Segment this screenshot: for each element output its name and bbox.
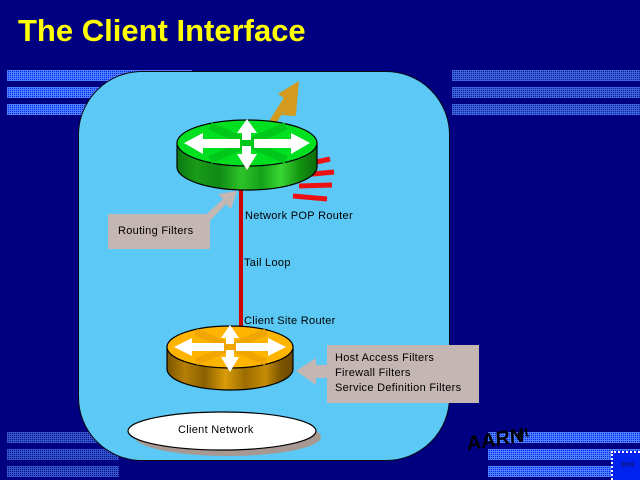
decor-stripe-bottom-left-2 [7, 449, 119, 460]
callout-routing-filters: Routing Filters [108, 214, 210, 249]
corner-placeholder-box[interactable]: 888 [611, 451, 640, 480]
slide-canvas: The Client Interface [0, 0, 640, 480]
client-site-router-label: Client Site Router [244, 315, 336, 327]
decor-stripe-top-right-3 [452, 104, 640, 115]
callout-site-filters-line-2: Firewall Filters [335, 366, 479, 381]
aarnet-logo: AARN et [468, 424, 548, 458]
callout-site-filters: Host Access Filters Firewall Filters Ser… [327, 345, 479, 403]
decor-stripe-bottom-left-3 [7, 466, 119, 477]
callout-routing-filters-line-1: Routing Filters [118, 224, 210, 239]
decor-stripe-top-right-2 [452, 87, 640, 98]
page-title: The Client Interface [18, 13, 306, 49]
corner-placeholder-text: 888 [621, 462, 635, 470]
client-network-label: Client Network [178, 424, 254, 436]
callout-site-filters-line-3: Service Definition Filters [335, 381, 479, 396]
network-pop-router-label: Network POP Router [245, 210, 353, 222]
callout-site-filters-line-1: Host Access Filters [335, 351, 479, 366]
decor-stripe-top-right-1 [452, 70, 640, 81]
aarnet-logo-suffix: et [516, 424, 530, 441]
tail-loop-label: Tail Loop [244, 257, 291, 269]
